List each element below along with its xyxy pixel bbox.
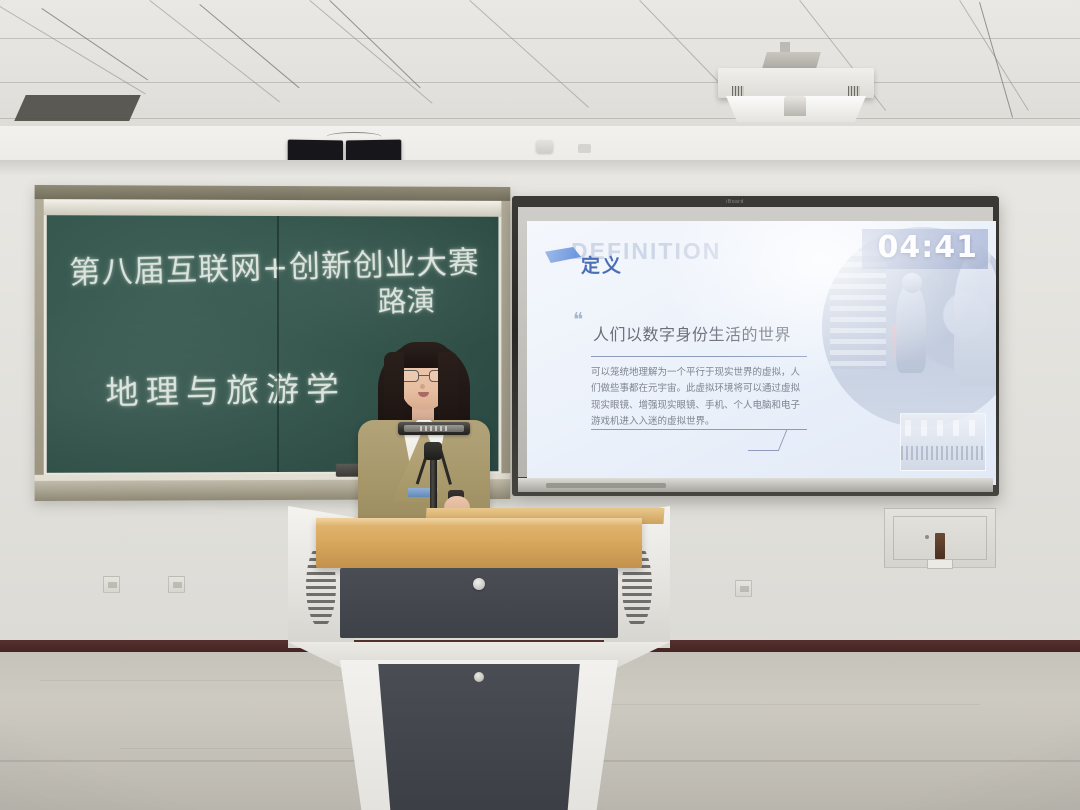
slide-robot-large	[954, 257, 996, 387]
slide-divider	[591, 356, 807, 357]
interactive-display[interactable]: iBoard 04:41 DEFINITION 定义 ❝ 人们以数字身份生活的世…	[512, 196, 999, 496]
blackboard-text-line3: 地理与旅游学	[105, 362, 346, 415]
ceiling-tile-gap	[14, 95, 141, 121]
projector-lens	[784, 96, 806, 116]
display-pen-tray	[546, 483, 666, 488]
quote-open-icon: ❝	[573, 309, 583, 331]
wall-panel-cable	[935, 533, 945, 559]
slide-timer: 04:41	[878, 231, 979, 265]
slide-thumbnail-image	[900, 413, 986, 471]
power-outlet-left[interactable]	[103, 576, 120, 593]
ceiling-projector	[718, 56, 874, 122]
quote-close-icon: ❞	[777, 331, 783, 345]
smoke-detector	[536, 140, 553, 153]
power-outlet-right[interactable]	[735, 580, 752, 597]
blackboard-text-line1: 第八届互联网+创新创业大赛	[68, 237, 480, 293]
lectern	[288, 506, 670, 810]
blackboard-text-line2: 路演	[377, 278, 435, 321]
lectern-lower-panel	[374, 664, 584, 810]
slide-body-text: 可以笼统地理解为一个平行于现实世界的虚拟，人们做些事都在元宇宙。此虚拟环境将可以…	[591, 365, 809, 430]
display-brand-label: iBoard	[690, 199, 780, 206]
av-wall-panel[interactable]	[884, 508, 996, 568]
classroom-scene: 第八届互联网+创新创业大赛 路演 地理与旅游学	[0, 0, 1080, 810]
power-outlet-left-2[interactable]	[168, 576, 185, 593]
ceiling	[0, 0, 1080, 132]
presentation-slide: 04:41 DEFINITION 定义 ❝ 人们以数字身份生活的世界 ❞ 可以笼…	[527, 221, 996, 485]
lectern-worktop	[316, 518, 642, 568]
microphone-grille-icon	[420, 426, 448, 431]
slide-callout-shape	[591, 429, 807, 451]
slide-title: 定义	[581, 251, 623, 278]
lectern-lock-lower[interactable]	[474, 672, 484, 682]
slide-robot-small	[896, 285, 926, 373]
wall-sensor	[578, 144, 591, 153]
slide-quote: 人们以数字身份生活的世界	[593, 321, 791, 345]
lectern-lock-upper[interactable]	[473, 578, 485, 590]
desktop-microphone	[398, 422, 470, 518]
blackboard-slide-rail	[44, 199, 502, 217]
